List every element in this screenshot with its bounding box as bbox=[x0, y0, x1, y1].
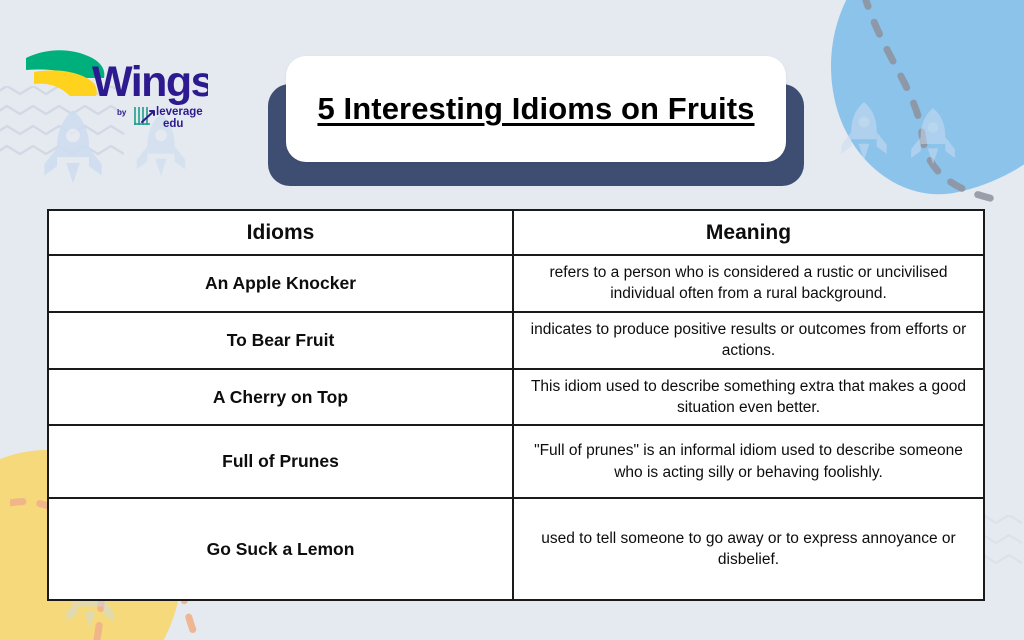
table-header-row: Idioms Meaning bbox=[48, 210, 984, 255]
idiom-cell: Full of Prunes bbox=[48, 425, 513, 498]
idiom-cell: Go Suck a Lemon bbox=[48, 498, 513, 600]
idioms-table: Idioms Meaning An Apple Knocker refers t… bbox=[47, 209, 985, 601]
title-banner: 5 Interesting Idioms on Fruits bbox=[268, 56, 804, 186]
column-header-idioms: Idioms bbox=[48, 210, 513, 255]
table-body: An Apple Knocker refers to a person who … bbox=[48, 255, 984, 600]
rocket-icon bbox=[905, 106, 961, 168]
meaning-cell: "Full of prunes" is an informal idiom us… bbox=[513, 425, 984, 498]
svg-text:edu: edu bbox=[163, 118, 183, 130]
blue-blob-shape bbox=[805, 0, 1024, 213]
table-row: Go Suck a Lemon used to tell someone to … bbox=[48, 498, 984, 600]
column-header-meaning: Meaning bbox=[513, 210, 984, 255]
table-row: A Cherry on Top This idiom used to descr… bbox=[48, 369, 984, 426]
meaning-cell: refers to a person who is considered a r… bbox=[513, 255, 984, 312]
table-row: An Apple Knocker refers to a person who … bbox=[48, 255, 984, 312]
idiom-cell: An Apple Knocker bbox=[48, 255, 513, 312]
svg-text:by: by bbox=[117, 108, 127, 117]
idiom-cell: To Bear Fruit bbox=[48, 312, 513, 369]
meaning-cell: used to tell someone to go away or to ex… bbox=[513, 498, 984, 600]
dashed-curve-icon-top bbox=[844, 0, 994, 209]
table-header: Idioms Meaning bbox=[48, 210, 984, 255]
rocket-icon bbox=[835, 100, 893, 164]
svg-text:Wings: Wings bbox=[92, 58, 208, 106]
meaning-cell: This idiom used to describe something ex… bbox=[513, 369, 984, 426]
svg-text:leverage: leverage bbox=[156, 106, 203, 118]
page-title: 5 Interesting Idioms on Fruits bbox=[303, 89, 768, 129]
table-row: To Bear Fruit indicates to produce posit… bbox=[48, 312, 984, 369]
wings-logo[interactable]: Wings by leverage edu bbox=[18, 42, 208, 134]
idiom-cell: A Cherry on Top bbox=[48, 369, 513, 426]
meaning-cell: indicates to produce positive results or… bbox=[513, 312, 984, 369]
title-card: 5 Interesting Idioms on Fruits bbox=[286, 56, 786, 162]
table-row: Full of Prunes "Full of prunes" is an in… bbox=[48, 425, 984, 498]
